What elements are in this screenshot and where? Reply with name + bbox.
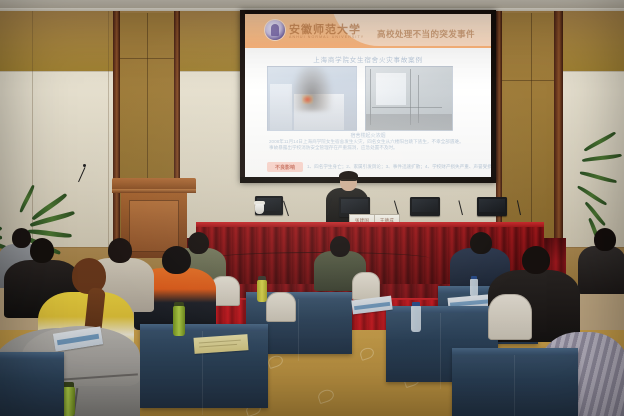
projection-screen: 安徽师范大学 ANHUI NORMAL UNIVERSITY 高校处理不当的突发… (240, 10, 496, 183)
slide-footer-text: 1、四名学生身亡；2、家属引发舆论；3、事件迅速扩散；4、学校财产损失严重、声誉… (307, 164, 469, 170)
palm-frond (577, 184, 607, 206)
slide-photo-debris (365, 66, 453, 131)
photo-window-opening (376, 73, 406, 105)
slide-photo-fire (267, 66, 357, 131)
attendee-head (470, 232, 492, 254)
notepad-line (199, 344, 237, 347)
green-thermos-center (173, 306, 185, 336)
university-subtitle: ANHUI NORMAL UNIVERSITY (289, 35, 364, 39)
attendee-head (12, 228, 31, 248)
slide-photo-caption: 宿舍楼起火浓烟 (245, 132, 491, 139)
slide-body-text: 2008年11月14日上海商学院女生宿舍发生火灾，四名女生从六楼阳台跳下逃生，不… (269, 139, 467, 151)
slide-impact-badge: 不良影响 (267, 162, 303, 172)
booklet-band (57, 334, 99, 346)
conference-hall-photo: 安徽师范大学 ANHUI NORMAL UNIVERSITY 高校处理不当的突发… (0, 0, 624, 416)
attendee-head (188, 232, 209, 254)
tea-cup (255, 204, 264, 214)
chair-back-mid-right (488, 294, 532, 340)
audience-table-front-right (452, 348, 578, 416)
monitor-3 (410, 197, 440, 216)
door-seam (120, 58, 176, 59)
presentation-slide: 安徽师范大学 ANHUI NORMAL UNIVERSITY 高校处理不当的突发… (245, 14, 491, 177)
monitor-4 (477, 197, 507, 216)
table-top-edge (386, 306, 498, 313)
slide-subtitle: 上海商学院女生宿舍火灾事故案例 (245, 54, 491, 64)
photo-flame (302, 95, 313, 104)
table-fold (440, 313, 441, 389)
attendee-head (522, 246, 550, 274)
attendee-head (30, 238, 54, 263)
yellow-thermos-back (257, 280, 267, 302)
slide-title: 高校处理不当的突发事件 (367, 28, 485, 40)
palm-frond (582, 154, 622, 162)
door-right-frame-right (554, 11, 563, 261)
chair-back-right (352, 272, 380, 300)
photo-debris-pile (366, 114, 452, 130)
palm-frond (28, 228, 72, 239)
booklet-band (354, 302, 390, 310)
podium-inlay (129, 200, 179, 252)
audience-table-front-left (0, 352, 64, 416)
palm-frond (579, 170, 617, 184)
attendee-head (108, 238, 132, 263)
table-top-edge (140, 324, 268, 331)
water-bottle-center (411, 306, 421, 332)
attendee-head (594, 228, 616, 251)
podium-microphone-head (83, 164, 86, 167)
attendee-head (162, 246, 191, 274)
university-crest-icon (265, 20, 285, 40)
chair-back-mid (266, 292, 296, 322)
photo-smoke-plume (292, 66, 332, 111)
photo-building-left (270, 84, 292, 130)
screen-frame-bottom (240, 177, 496, 183)
table-fold (514, 355, 515, 416)
door-seam (502, 80, 556, 81)
notepad-line (199, 340, 241, 344)
table-fold (298, 299, 299, 361)
attendee-torso (578, 246, 624, 294)
table-top-edge (452, 348, 578, 355)
table-top-edge (0, 352, 64, 359)
screen-frame-right (491, 10, 496, 183)
attendee-head (330, 236, 350, 257)
photo-beam (372, 107, 442, 108)
